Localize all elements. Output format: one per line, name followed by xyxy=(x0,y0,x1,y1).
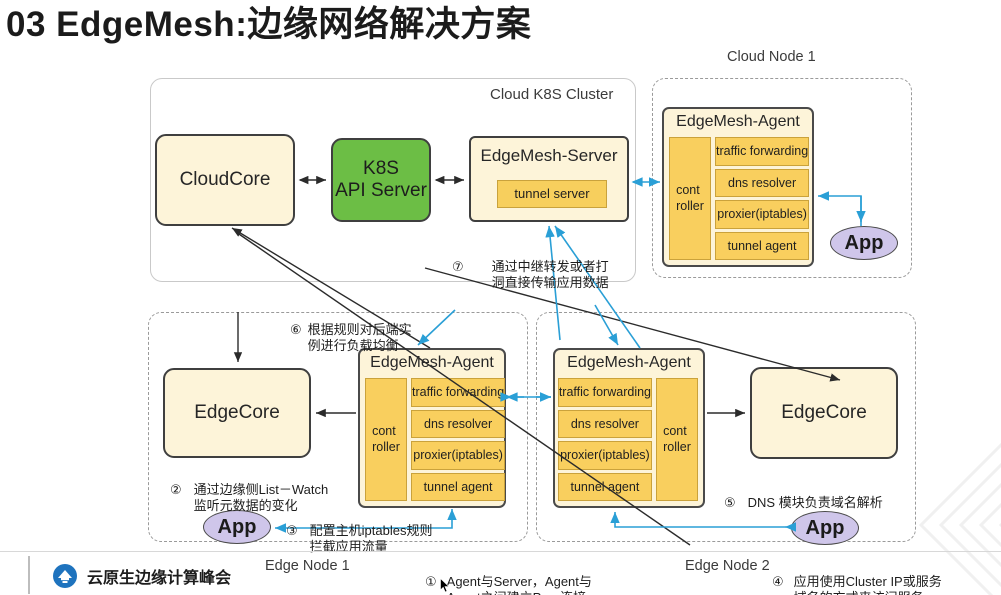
agent-title: EdgeMesh-Agent xyxy=(664,113,812,131)
cloud-logo-icon xyxy=(52,563,78,589)
agent-module-traffic-forwarding[interactable]: traffic forwarding xyxy=(715,137,809,166)
annotation-5-text: DNS 模块负责域名解析 xyxy=(748,495,883,512)
agent-module-tunnel-agent[interactable]: tunnel agent xyxy=(715,232,809,261)
agent-module-dns-resolver[interactable]: dns resolver xyxy=(411,410,505,439)
annotation-1-number: ① xyxy=(425,574,437,591)
page-title: 03 EdgeMesh:边缘网络解决方案 xyxy=(6,0,531,47)
annotation-5-number: ⑤ xyxy=(724,495,736,512)
agent-module-dns-resolver[interactable]: dns resolver xyxy=(715,169,809,198)
brand-text: 云原生边缘计算峰会 xyxy=(87,564,231,588)
annotation-7: ⑦ 通过中继转发或者打 洞直接传输应用数据 xyxy=(452,242,609,309)
cloud-node-1-label: Cloud Node 1 xyxy=(727,49,816,65)
annotation-1-text: Agent与Server，Agent与 Agent之间建立Peer连接 xyxy=(447,574,592,595)
cloud-node-1-app[interactable]: App xyxy=(830,226,898,260)
edge-node-2-label: Edge Node 2 xyxy=(685,558,770,574)
edge-node-1-agent[interactable]: EdgeMesh-Agent cont roller traffic forwa… xyxy=(358,348,506,508)
edgemesh-server-title: EdgeMesh-Server xyxy=(471,146,627,166)
annotation-1: ① Agent与Server，Agent与 Agent之间建立Peer连接 xyxy=(425,557,592,595)
agent-module-proxier[interactable]: proxier(iptables) xyxy=(411,441,505,470)
tunnel-server-box[interactable]: tunnel server xyxy=(497,180,607,208)
agent-module-tunnel-agent[interactable]: tunnel agent xyxy=(411,473,505,502)
edge-node-1-edgecore[interactable]: EdgeCore xyxy=(163,368,311,458)
annotation-4: ④ 应用使用Cluster IP或服务 域名的方式来访问服务 xyxy=(772,557,942,595)
annotation-4-number: ④ xyxy=(772,574,784,591)
annotation-7-number: ⑦ xyxy=(452,259,464,276)
agent-module-proxier[interactable]: proxier(iptables) xyxy=(558,441,652,470)
edge-node-2-edgecore[interactable]: EdgeCore xyxy=(750,367,898,459)
edgemesh-server-box[interactable]: EdgeMesh-Server tunnel server xyxy=(469,136,629,222)
slide-canvas: 03 EdgeMesh:边缘网络解决方案 Cloud K8S Cluster C… xyxy=(0,0,1001,595)
mouse-cursor xyxy=(440,578,450,593)
annotation-7-text: 通过中继转发或者打 洞直接传输应用数据 xyxy=(492,259,609,292)
annotation-3-number: ③ xyxy=(286,523,298,540)
footer-accent-bar xyxy=(28,556,30,594)
agent-controller[interactable]: cont roller xyxy=(656,378,698,501)
agent-module-traffic-forwarding[interactable]: traffic forwarding xyxy=(558,378,652,407)
annotation-3: ③ 配置主机iptables规则 拦截应用流量 xyxy=(286,506,432,573)
cloudcore-box[interactable]: CloudCore xyxy=(155,134,295,226)
annotation-2-number: ② xyxy=(170,482,182,499)
agent-controller[interactable]: cont roller xyxy=(669,137,711,260)
agent-module-tunnel-agent[interactable]: tunnel agent xyxy=(558,473,652,502)
edge-node-2-agent[interactable]: EdgeMesh-Agent cont roller traffic forwa… xyxy=(553,348,705,508)
agent-module-dns-resolver[interactable]: dns resolver xyxy=(558,410,652,439)
annotation-6-number: ⑥ xyxy=(290,322,302,339)
cloud-k8s-cluster-label: Cloud K8S Cluster xyxy=(490,86,613,103)
footer-divider xyxy=(0,551,1001,552)
cloud-node-1-agent[interactable]: EdgeMesh-Agent cont roller traffic forwa… xyxy=(662,107,814,267)
agent-module-proxier[interactable]: proxier(iptables) xyxy=(715,200,809,229)
agent-title: EdgeMesh-Agent xyxy=(555,354,703,372)
brand-block: 云原生边缘计算峰会 xyxy=(52,563,231,589)
agent-controller[interactable]: cont roller xyxy=(365,378,407,501)
annotation-6: ⑥ 根据规则对后端实 例进行负载均衡 xyxy=(290,305,412,372)
k8s-api-server-box[interactable]: K8S API Server xyxy=(331,138,431,222)
annotation-6-text: 根据规则对后端实 例进行负载均衡 xyxy=(308,322,412,355)
agent-module-traffic-forwarding[interactable]: traffic forwarding xyxy=(411,378,505,407)
annotation-5: ⑤ DNS 模块负责域名解析 xyxy=(724,478,883,528)
annotation-4-text: 应用使用Cluster IP或服务 域名的方式来访问服务 xyxy=(794,574,942,595)
